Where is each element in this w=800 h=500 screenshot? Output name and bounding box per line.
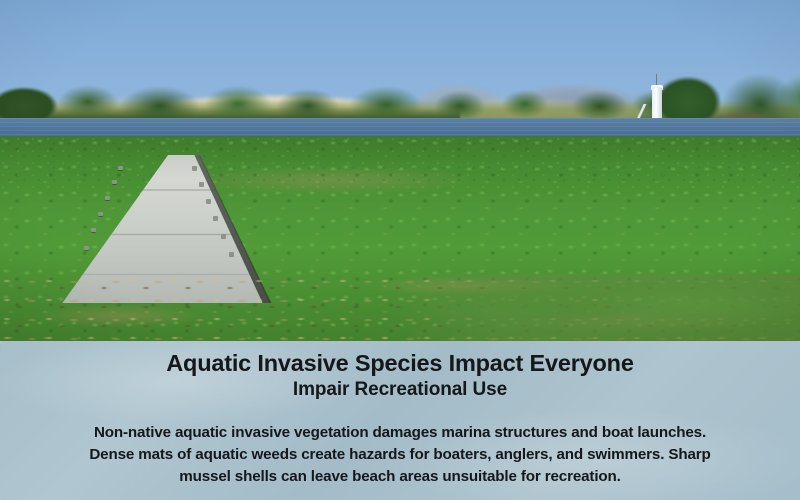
page-subtitle: Impair Recreational Use (18, 376, 782, 401)
body-text: Non-native aquatic invasive vegetation d… (24, 401, 776, 488)
page-title: Aquatic Invasive Species Impact Everyone (18, 341, 782, 376)
ramp-cleat-right-4 (213, 216, 218, 220)
ramp-cleat-left-5 (91, 228, 96, 232)
body-line-2: Dense mats of aquatic weeds create hazar… (24, 444, 776, 466)
photograph (0, 0, 800, 341)
body-line-3: mussel shells can leave beach areas unsu… (24, 466, 776, 488)
ramp-cleat-right-6 (229, 252, 234, 256)
ramp-cleat-right-1 (192, 166, 197, 170)
ramp-cleat-right-5 (221, 234, 226, 238)
ramp-cleat-right-2 (199, 182, 204, 186)
hyacinth-texture-far (0, 136, 800, 188)
ramp-cleat-left-3 (105, 196, 110, 200)
ramp-cleat-left-2 (112, 180, 117, 184)
foreground-weed-right (380, 274, 800, 341)
ramp-cleat-left-1 (118, 166, 123, 170)
caption-panel: Aquatic Invasive Species Impact Everyone… (0, 341, 800, 500)
caption-content: Aquatic Invasive Species Impact Everyone… (18, 341, 782, 488)
ramp-cleat-left-6 (84, 246, 89, 250)
poster: Aquatic Invasive Species Impact Everyone… (0, 0, 800, 500)
ramp-cleat-left-4 (98, 212, 103, 216)
body-line-1: Non-native aquatic invasive vegetation d… (24, 422, 776, 444)
ramp-cleat-right-3 (206, 199, 211, 203)
